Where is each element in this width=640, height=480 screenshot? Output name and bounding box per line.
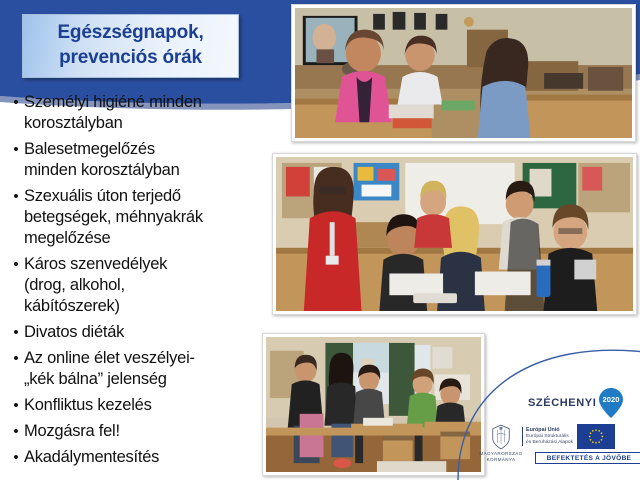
eu-flag-icon bbox=[577, 424, 615, 449]
photo-image bbox=[266, 337, 481, 472]
bullet-marker-icon: • bbox=[8, 92, 24, 113]
szechenyi-logo: SZÉCHENYI 2020 bbox=[528, 388, 623, 418]
list-item-text: Balesetmegelőzés minden korosztályban bbox=[24, 139, 180, 181]
slide-title-box: Egészségnapok, prevenciós órák bbox=[22, 14, 239, 78]
bullet-marker-icon: • bbox=[8, 348, 24, 369]
bullet-list: • Személyi higiéné minden korosztályban … bbox=[8, 92, 266, 473]
list-item-text: Divatos diéták bbox=[24, 322, 124, 343]
eu-funding-row: MAGYARORSZÁG KORMÁNYA Európai Unió Európ… bbox=[484, 424, 636, 464]
hungary-government-caption: MAGYARORSZÁG KORMÁNYA bbox=[479, 451, 522, 462]
page-title-line-1: Egészségnapok, bbox=[29, 20, 232, 45]
list-item: • Káros szenvedélyek (drog, alkohol, káb… bbox=[8, 254, 266, 317]
list-item: • Balesetmegelőzés minden korosztályban bbox=[8, 139, 266, 181]
eu-subtitle: Európai Strukturális és Beruházási Alapo… bbox=[526, 434, 573, 446]
photo-activity-session bbox=[262, 333, 485, 476]
list-item: • Mozgásra fel! bbox=[8, 421, 266, 442]
bullet-marker-icon: • bbox=[8, 447, 24, 468]
list-item: • Akadálymentesítés bbox=[8, 447, 266, 468]
hungary-government-logo: MAGYARORSZÁG KORMÁNYA bbox=[484, 424, 518, 462]
list-item-text: Az online élet veszélyei- „kék bálna” je… bbox=[24, 348, 195, 390]
list-item-text: Konfliktus kezelés bbox=[24, 395, 152, 416]
szechenyi-label: SZÉCHENYI bbox=[528, 397, 596, 409]
photo-image bbox=[276, 157, 633, 311]
list-item: • Személyi higiéné minden korosztályban bbox=[8, 92, 266, 134]
list-item-text: Szexuális úton terjedő betegségek, méhny… bbox=[24, 186, 203, 249]
bullet-marker-icon: • bbox=[8, 395, 24, 416]
bullet-marker-icon: • bbox=[8, 186, 24, 207]
page-title-line-2: prevenciós órák bbox=[29, 45, 232, 70]
photo-classroom-discussion bbox=[291, 4, 636, 142]
eu-title: Európai Unió bbox=[526, 427, 573, 434]
photo-image bbox=[295, 8, 632, 138]
bullet-marker-icon: • bbox=[8, 139, 24, 160]
funding-logo-block: SZÉCHENYI 2020 MAGYARORSZÁG KORMÁNYA bbox=[484, 386, 636, 478]
eu-slogan-box: BEFEKTETÉS A JÖVŐBE bbox=[535, 452, 640, 464]
list-item: • Divatos diéták bbox=[8, 322, 266, 343]
list-item: • Konfliktus kezelés bbox=[8, 395, 266, 416]
list-item-text: Mozgásra fel! bbox=[24, 421, 120, 442]
szechenyi-year: 2020 bbox=[603, 395, 620, 404]
list-item: • Szexuális úton terjedő betegségek, méh… bbox=[8, 186, 266, 249]
list-item: • Az online élet veszélyei- „kék bálna” … bbox=[8, 348, 266, 390]
szechenyi-pin-icon: 2020 bbox=[599, 388, 623, 418]
photo-group-work bbox=[272, 153, 637, 315]
list-item-text: Akadálymentesítés bbox=[24, 447, 159, 468]
bullet-marker-icon: • bbox=[8, 254, 24, 275]
list-item-text: Káros szenvedélyek (drog, alkohol, kábít… bbox=[24, 254, 167, 317]
eu-logo-group: Európai Unió Európai Strukturális és Ber… bbox=[522, 424, 640, 464]
slide-root: Egészségnapok, prevenciós órák • Személy… bbox=[0, 0, 640, 480]
eu-slogan: BEFEKTETÉS A JÖVŐBE bbox=[547, 455, 632, 462]
hungarian-coat-of-arms-icon bbox=[490, 424, 512, 450]
bullet-marker-icon: • bbox=[8, 421, 24, 442]
list-item-text: Személyi higiéné minden korosztályban bbox=[24, 92, 202, 134]
bullet-marker-icon: • bbox=[8, 322, 24, 343]
